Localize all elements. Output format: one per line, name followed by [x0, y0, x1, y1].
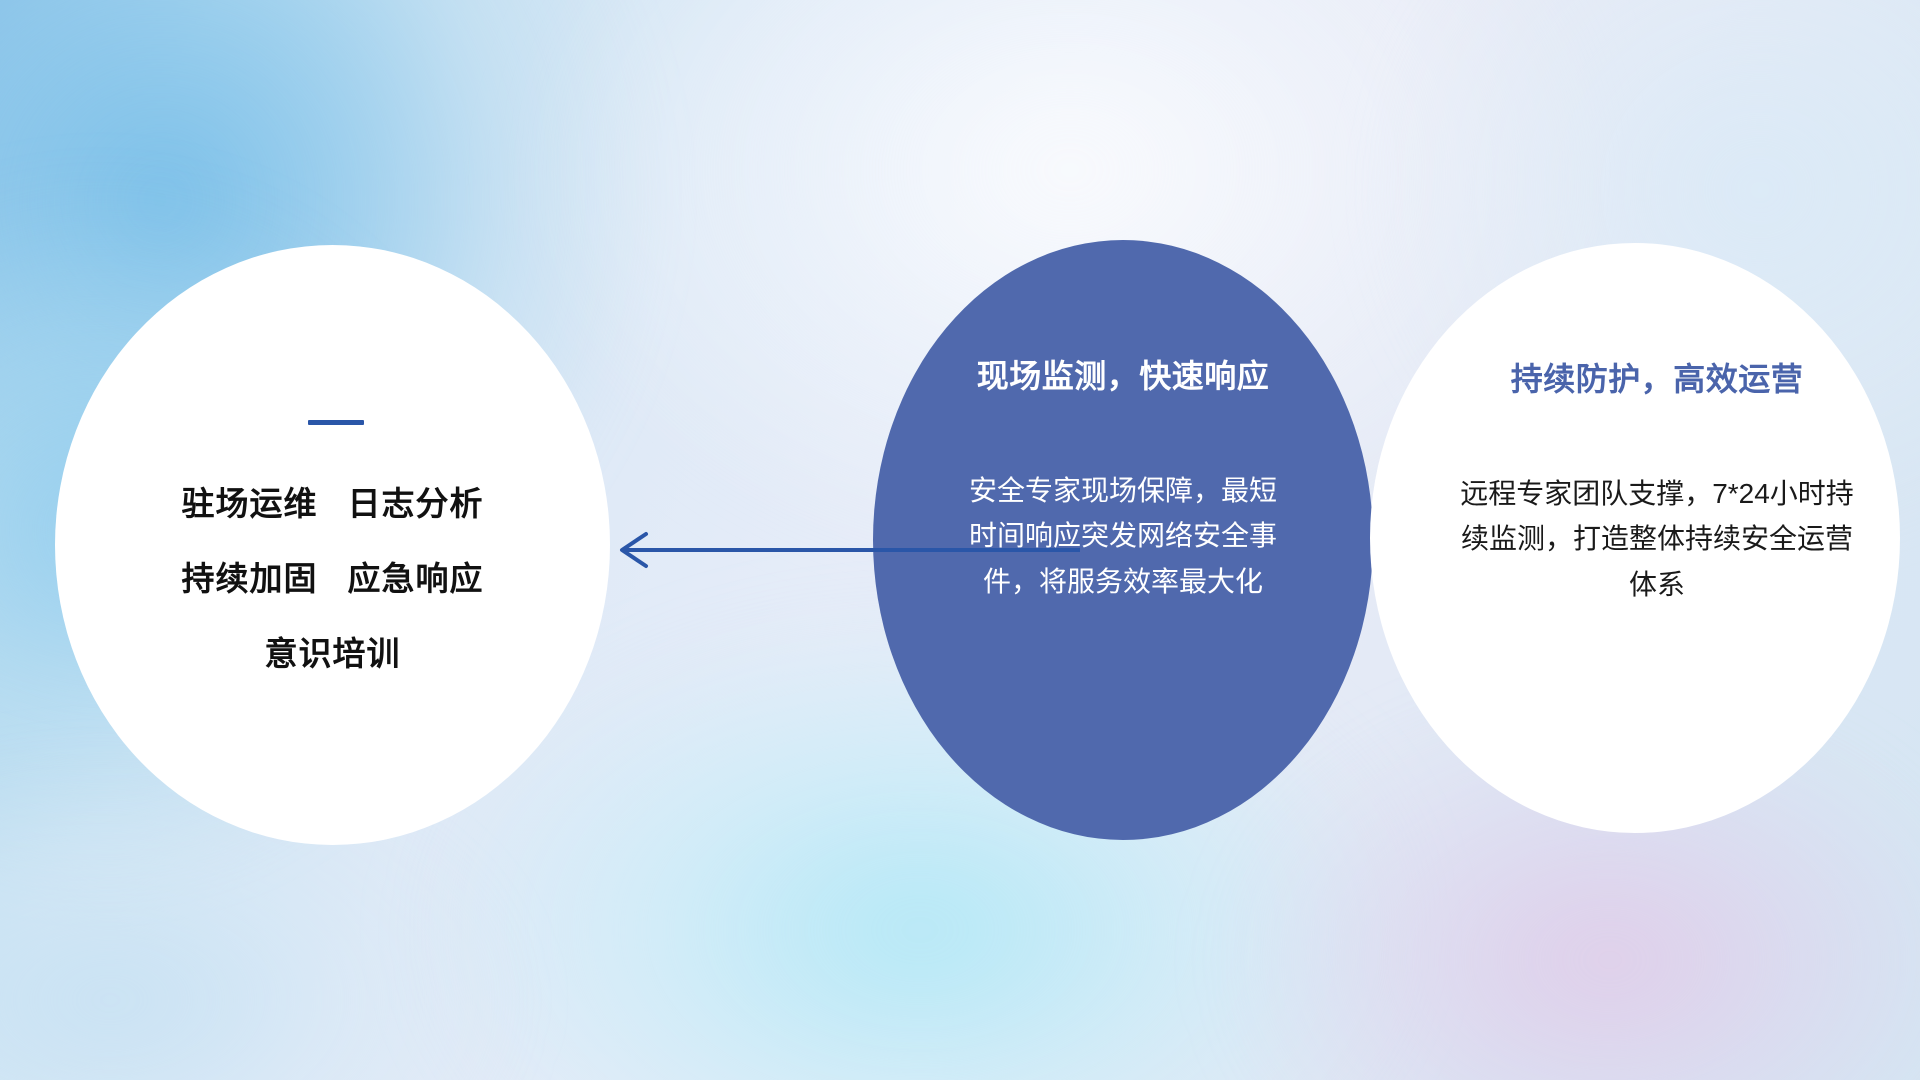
capability-row-1: 驻场运维日志分析 [182, 487, 484, 520]
capability-label-continuous-hardening: 持续加固 [182, 560, 318, 597]
slide-canvas: 驻场运维日志分析 持续加固应急响应 意识培训 现场监测，快速响应 安全专家现场保… [0, 0, 1920, 1080]
capability-label-emergency-response: 应急响应 [348, 560, 484, 597]
capability-label-onsite-ops: 驻场运维 [182, 485, 318, 522]
onsite-monitoring-content: 现场监测，快速响应 安全专家现场保障，最短时间响应突发网络安全事件，将服务效率最… [873, 240, 1373, 840]
onsite-monitoring-body: 安全专家现场保障，最短时间响应突发网络安全事件，将服务效率最大化 [958, 468, 1288, 604]
capability-row-2: 持续加固应急响应 [182, 562, 484, 595]
continuous-defense-body: 远程专家团队支撑，7*24小时持续监测，打造整体持续安全运营体系 [1457, 471, 1857, 607]
left-capability-content: 驻场运维日志分析 持续加固应急响应 意识培训 [55, 245, 610, 845]
capability-row-3: 意识培训 [265, 637, 401, 670]
onsite-monitoring-title: 现场监测，快速响应 [977, 360, 1270, 392]
continuous-defense-content: 持续防护，高效运营 远程专家团队支撑，7*24小时持续监测，打造整体持续安全运营… [1370, 243, 1900, 833]
left-divider-rule [308, 420, 364, 425]
capability-label-log-analysis: 日志分析 [348, 485, 484, 522]
capability-label-awareness-training: 意识培训 [265, 635, 401, 672]
continuous-defense-title: 持续防护，高效运营 [1511, 363, 1804, 395]
